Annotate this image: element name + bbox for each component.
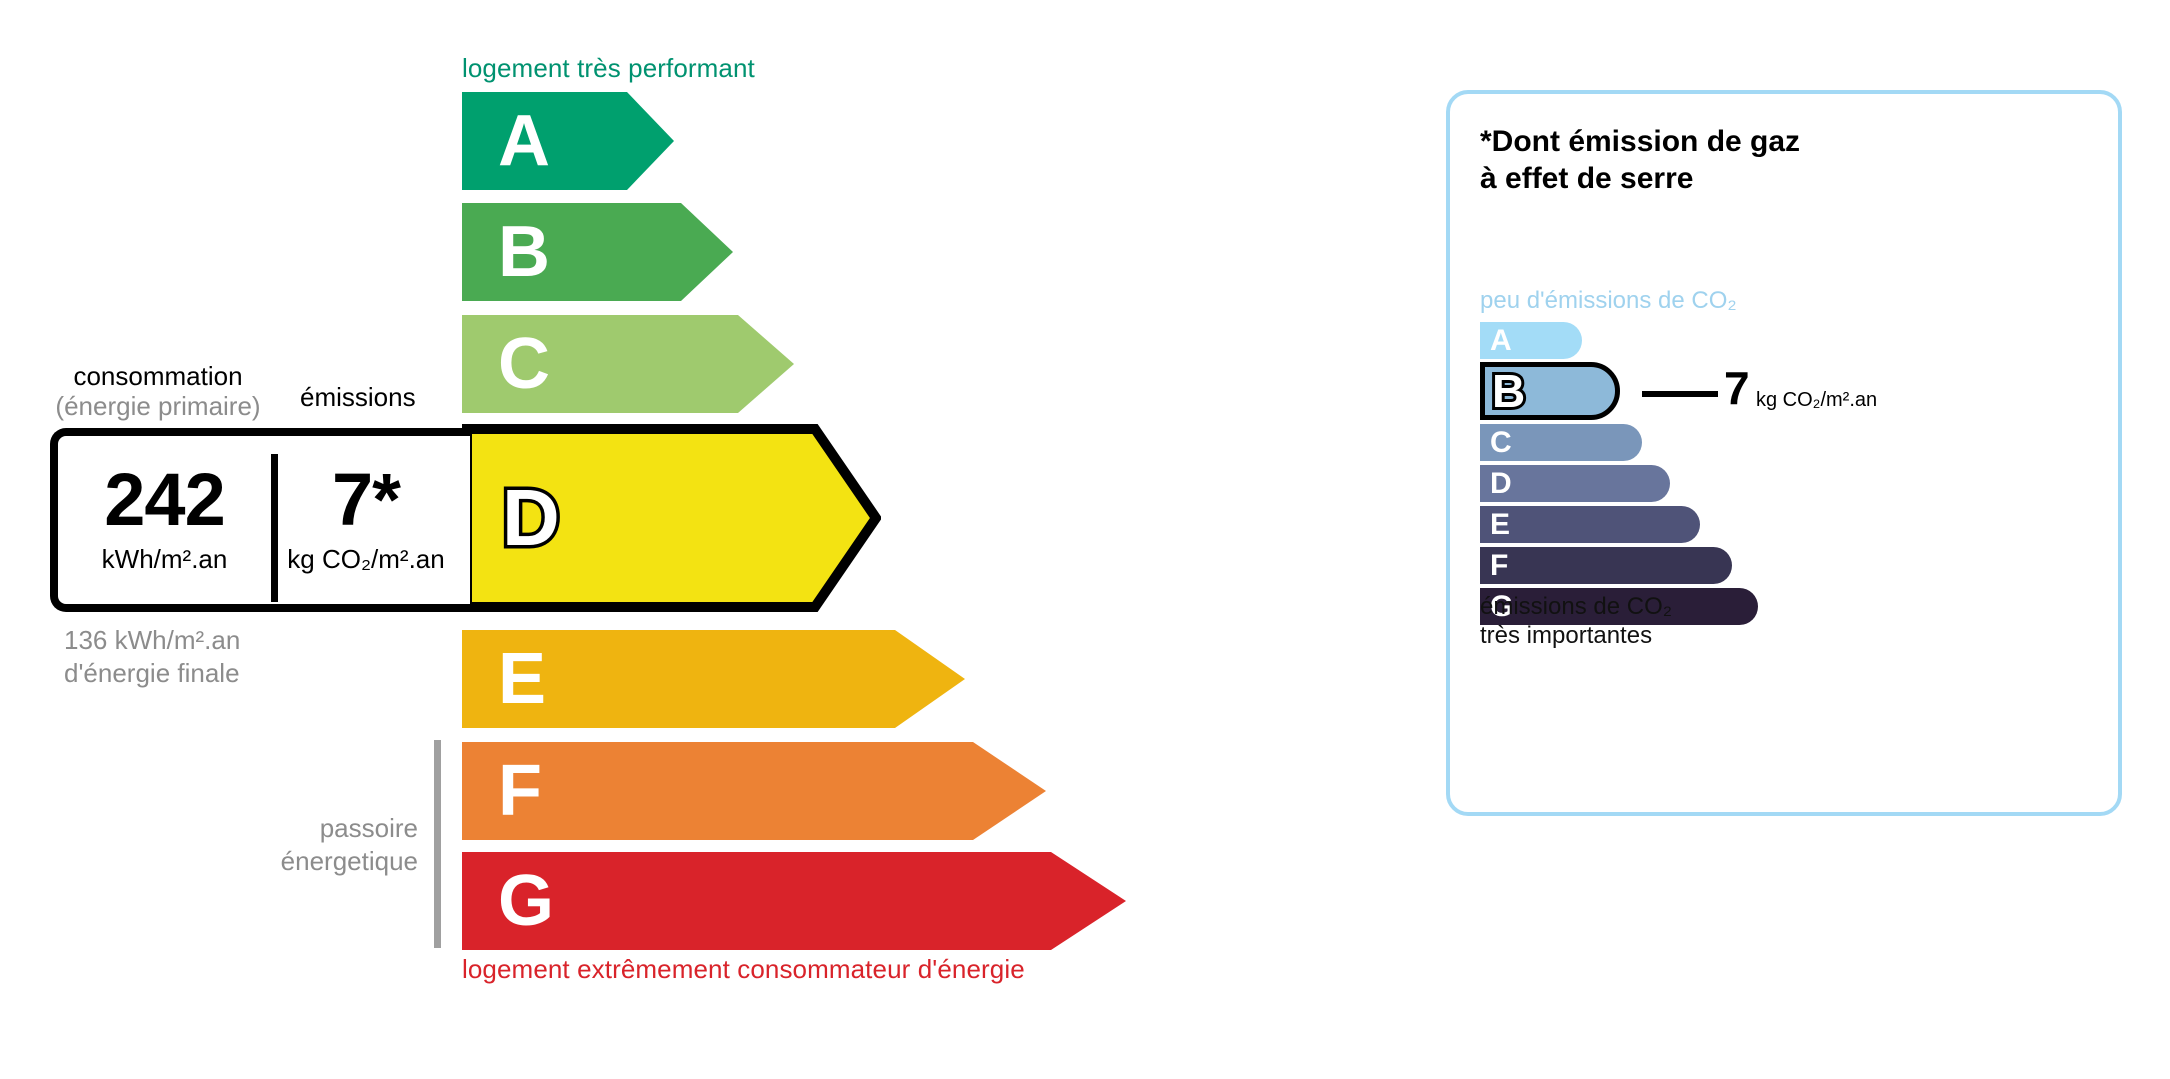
co2-class-letter-c: C [1490, 428, 1512, 458]
energy-class-row-a: A [462, 92, 674, 190]
co2-callout-line [1642, 391, 1718, 397]
energy-class-row-b: B [462, 203, 733, 301]
arrow-shape-f [462, 742, 1046, 840]
co2-class-letter-a: A [1490, 326, 1512, 356]
passoire-label: passoire énergetique [180, 812, 418, 877]
co2-callout-unit: kg CO₂/m².an [1756, 389, 1877, 412]
co2-class-letter-f: F [1490, 551, 1508, 581]
consumption-label-sub: (énergie primaire) [48, 392, 268, 422]
consumption-label-main: consommation [73, 361, 242, 391]
co2-class-row-f: F [1480, 547, 1732, 584]
co2-class-letter-d: D [1490, 469, 1512, 499]
value-box: 242 kWh/m².an 7* kg CO₂/m².an [50, 428, 470, 612]
consumption-value-group: 242 kWh/m².an [58, 436, 271, 604]
co2-class-row-d: D [1480, 465, 1670, 502]
energy-class-letter-c: C [498, 328, 550, 400]
energy-class-row-g: G [462, 852, 1126, 950]
co2-class-row-e: E [1480, 506, 1700, 543]
energy-performance-panel: logement très performant ABCDEFG consomm… [0, 0, 1400, 1079]
emissions-label: émissions [300, 382, 416, 413]
energy-class-row-f: F [462, 742, 1046, 840]
co2-class-row-b: B [1480, 362, 1620, 420]
co2-class-letter-b: B [1492, 368, 1525, 414]
consumption-label: consommation (énergie primaire) [48, 362, 268, 422]
co2-bar-e [1480, 506, 1700, 543]
co2-bar-f [1480, 547, 1732, 584]
energy-class-letter-b: B [498, 216, 550, 288]
energy-class-letter-a: A [498, 105, 550, 177]
energy-class-row-d: D [462, 424, 881, 612]
co2-bottom-caption: émissions de CO₂ très importantes [1480, 592, 1672, 651]
co2-class-row-a: A [1480, 322, 1582, 359]
consumption-value: 242 [104, 465, 224, 535]
energy-class-letter-d: D [502, 478, 560, 558]
co2-emissions-panel: *Dont émission de gaz à effet de serre p… [1446, 90, 2122, 816]
co2-class-row-c: C [1480, 424, 1642, 461]
emission-value-group: 7* kg CO₂/m².an [271, 436, 461, 604]
energy-bottom-caption: logement extrêmement consommateur d'éner… [462, 954, 1025, 985]
passoire-bracket [434, 740, 441, 948]
co2-top-caption: peu d'émissions de CO₂ [1480, 287, 1737, 315]
consumption-unit: kWh/m².an [102, 544, 228, 575]
energy-top-caption: logement très performant [462, 53, 755, 84]
energy-class-letter-e: E [498, 643, 546, 715]
energy-class-letter-f: F [498, 755, 542, 827]
dpe-label: logement très performant ABCDEFG consomm… [0, 0, 2170, 1079]
energy-class-row-e: E [462, 630, 965, 728]
energy-class-row-c: C [462, 315, 794, 413]
arrow-shape-a [462, 92, 674, 190]
energy-class-letter-g: G [498, 865, 554, 937]
co2-class-letter-e: E [1490, 510, 1510, 540]
emission-unit: kg CO₂/m².an [287, 544, 444, 575]
co2-panel-title: *Dont émission de gaz à effet de serre [1480, 124, 1800, 197]
co2-callout-value: 7 [1724, 365, 1750, 411]
arrow-shape-g [462, 852, 1126, 950]
final-energy-label: 136 kWh/m².an d'énergie finale [64, 624, 240, 689]
emission-value: 7* [332, 465, 400, 535]
